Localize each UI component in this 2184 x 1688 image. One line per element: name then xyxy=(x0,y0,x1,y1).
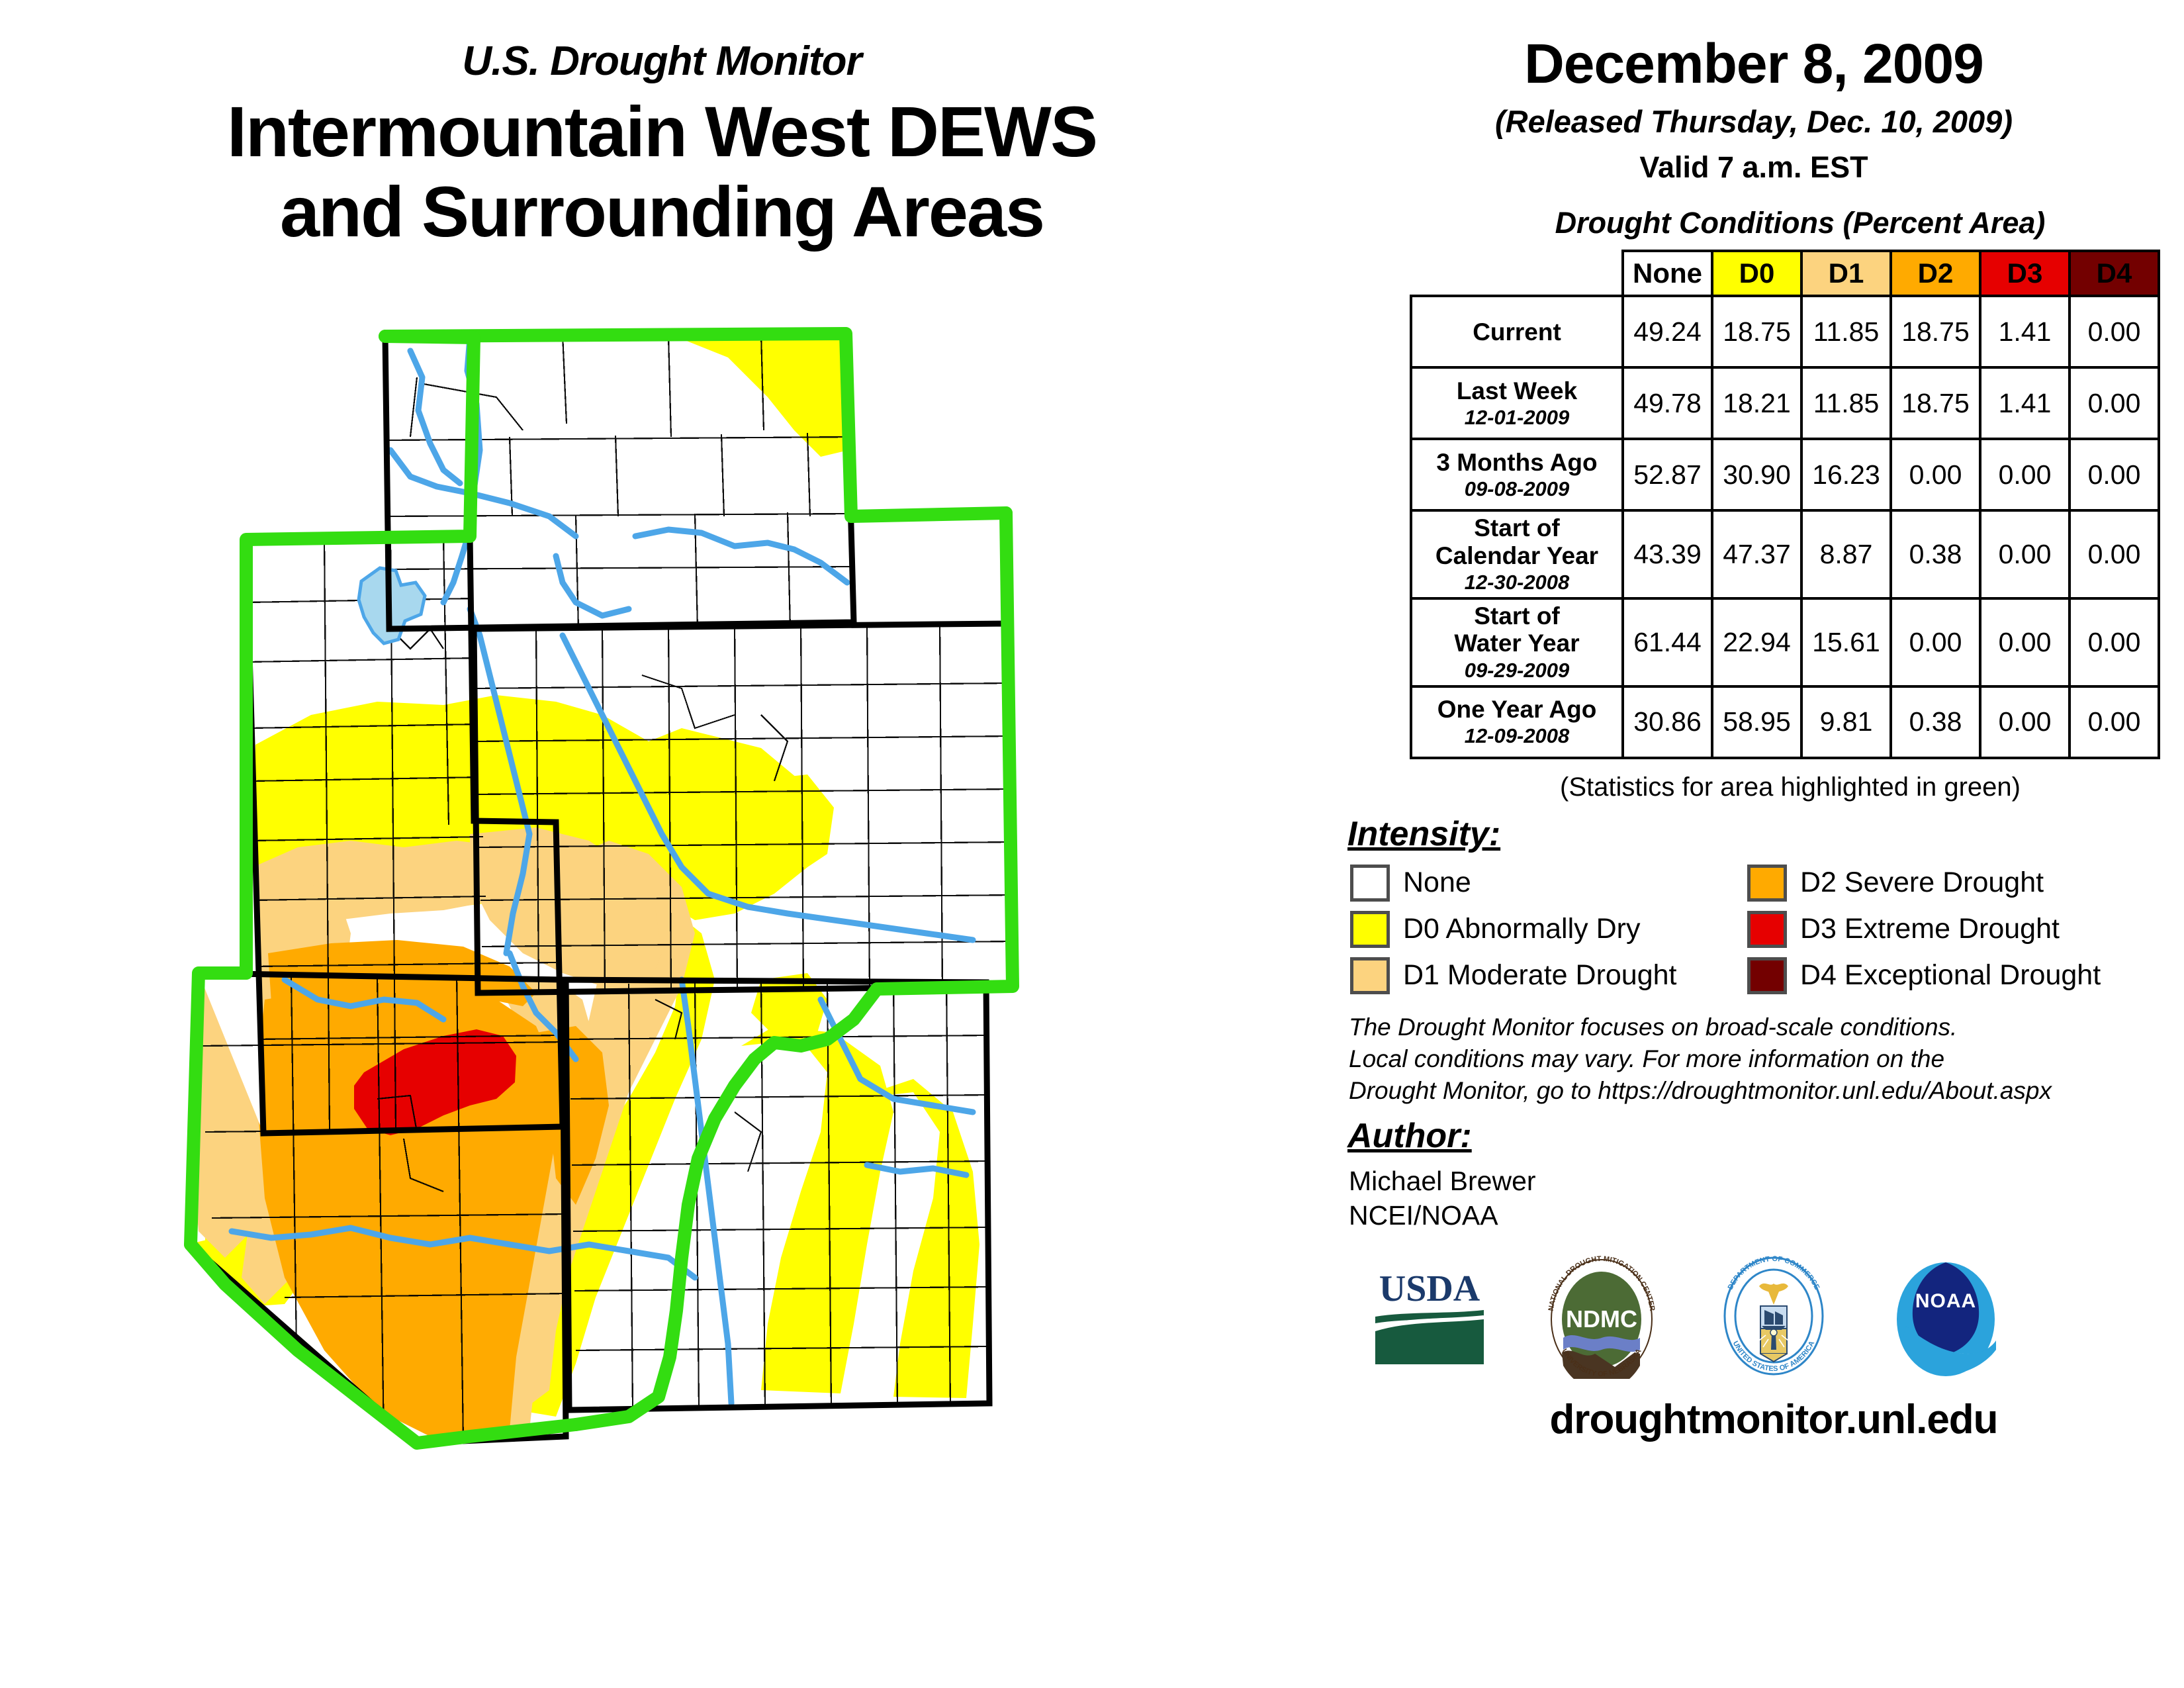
table-row: One Year Ago12-09-200830.8658.959.810.38… xyxy=(1411,686,2159,758)
table-cell-value: 9.81 xyxy=(1801,686,1891,758)
swatch-d2-icon xyxy=(1747,865,1787,902)
col-header-d1: D1 xyxy=(1801,251,1891,296)
table-cell-value: 15.61 xyxy=(1801,598,1891,686)
table-cell-value: 1.41 xyxy=(1980,296,2070,367)
col-header-none: None xyxy=(1623,251,1712,296)
table-cell-value: 0.00 xyxy=(1980,686,2070,758)
swatch-d0-icon xyxy=(1350,911,1390,948)
table-cell-value: 0.00 xyxy=(2070,510,2159,598)
table-cell-value: 18.75 xyxy=(1891,296,1980,367)
table-cell-value: 0.00 xyxy=(1891,439,1980,510)
table-cell-value: 30.90 xyxy=(1712,439,1801,510)
row-label-date: 09-29-2009 xyxy=(1416,659,1617,682)
legend-label-none: None xyxy=(1403,867,1471,899)
col-header-d4: D4 xyxy=(2070,251,2159,296)
disclaimer-line-2: Local conditions may vary. For more info… xyxy=(1349,1043,2164,1075)
page-subtitle: U.S. Drought Monitor xyxy=(0,40,1324,83)
row-label: 3 Months Ago09-08-2009 xyxy=(1411,439,1623,510)
row-label-date: 12-30-2008 xyxy=(1416,571,1617,594)
table-cell-value: 0.00 xyxy=(1891,598,1980,686)
col-header-d0: D0 xyxy=(1712,251,1801,296)
release-date: (Released Thursday, Dec. 10, 2009) xyxy=(1343,103,2164,140)
table-cell-value: 0.00 xyxy=(1980,510,2070,598)
page-title-line1: Intermountain West DEWS xyxy=(0,92,1324,172)
row-label: One Year Ago12-09-2008 xyxy=(1411,686,1623,758)
table-cell-value: 49.78 xyxy=(1623,367,1712,439)
table-cell-value: 22.94 xyxy=(1712,598,1801,686)
table-header: None D0 D1 D2 D3 D4 xyxy=(1411,251,2159,296)
legend-label-d2: D2 Severe Drought xyxy=(1800,867,2044,899)
row-label: Start ofWater Year09-29-2009 xyxy=(1411,598,1623,686)
table-cell-value: 47.37 xyxy=(1712,510,1801,598)
table-row: Start ofCalendar Year12-30-200843.3947.3… xyxy=(1411,510,2159,598)
table-cell-value: 49.24 xyxy=(1623,296,1712,367)
disclaimer-text: The Drought Monitor focuses on broad-sca… xyxy=(1349,1011,2164,1107)
table-cell-value: 1.41 xyxy=(1980,367,2070,439)
table-cell-value: 8.87 xyxy=(1801,510,1891,598)
valid-time: Valid 7 a.m. EST xyxy=(1343,150,2164,185)
legend-item-d2: D2 Severe Drought xyxy=(1747,865,2144,902)
table-cell-value: 18.75 xyxy=(1712,296,1801,367)
legend-item-d0: D0 Abnormally Dry xyxy=(1350,911,1747,948)
legend-item-none: None xyxy=(1350,865,1747,902)
table-cell-value: 0.00 xyxy=(2070,367,2159,439)
table-cell-value: 0.00 xyxy=(2070,439,2159,510)
table-cell-value: 61.44 xyxy=(1623,598,1712,686)
page-title: Intermountain West DEWS and Surrounding … xyxy=(0,92,1324,252)
row-label: Start ofCalendar Year12-30-2008 xyxy=(1411,510,1623,598)
author-name: Michael Brewer xyxy=(1349,1164,2164,1198)
author-heading: Author: xyxy=(1347,1116,2164,1156)
table-row: Start ofWater Year09-29-200961.4422.9415… xyxy=(1411,598,2159,686)
author-block: Michael Brewer NCEI/NOAA xyxy=(1349,1164,2164,1233)
usda-logo: USDA xyxy=(1363,1253,1496,1379)
table-cell-value: 0.00 xyxy=(1980,439,2070,510)
table-cell-value: 18.75 xyxy=(1891,367,1980,439)
table-body: Current49.2418.7511.8518.751.410.00Last … xyxy=(1411,296,2159,757)
table-cell-value: 0.00 xyxy=(2070,598,2159,686)
doc-seal-logo: DEPARTMENT OF COMMERCE UNITED STATES OF … xyxy=(1707,1253,1840,1379)
title-block: U.S. Drought Monitor Intermountain West … xyxy=(0,40,1324,252)
legend-item-d1: D1 Moderate Drought xyxy=(1350,957,1747,994)
table-cell-value: 11.85 xyxy=(1801,367,1891,439)
page-title-line2: and Surrounding Areas xyxy=(0,172,1324,252)
table-cell-value: 0.38 xyxy=(1891,686,1980,758)
legend-item-d3: D3 Extreme Drought xyxy=(1747,911,2144,948)
table-cell-value: 52.87 xyxy=(1623,439,1712,510)
author-affiliation: NCEI/NOAA xyxy=(1349,1198,2164,1233)
table-cell-value: 0.38 xyxy=(1891,510,1980,598)
legend-label-d4: D4 Exceptional Drought xyxy=(1800,959,2101,992)
table-cell-value: 58.95 xyxy=(1712,686,1801,758)
table-caption: Drought Conditions (Percent Area) xyxy=(1343,206,2164,240)
row-label-date: 09-08-2009 xyxy=(1416,478,1617,501)
legend-label-d0: D0 Abnormally Dry xyxy=(1403,913,1640,945)
intensity-legend: None D2 Severe Drought D0 Abnormally Dry… xyxy=(1350,865,2164,994)
row-label-date: 12-01-2009 xyxy=(1416,406,1617,430)
legend-item-d4: D4 Exceptional Drought xyxy=(1747,957,2144,994)
swatch-d3-icon xyxy=(1747,911,1787,948)
swatch-none-icon xyxy=(1350,865,1390,902)
row-label: Current xyxy=(1411,296,1623,367)
agency-logos: USDA NDMC NATIONAL DROUGHT MITIGATION CE xyxy=(1363,1253,2164,1379)
svg-text:NOAA: NOAA xyxy=(1915,1290,1976,1312)
disclaimer-line-3[interactable]: Drought Monitor, go to https://droughtmo… xyxy=(1349,1075,2164,1107)
website-url[interactable]: droughtmonitor.unl.edu xyxy=(1343,1396,2164,1443)
swatch-d4-icon xyxy=(1747,957,1787,994)
disclaimer-line-1: The Drought Monitor focuses on broad-sca… xyxy=(1349,1011,2164,1043)
col-header-d2: D2 xyxy=(1891,251,1980,296)
table-cell-value: 0.00 xyxy=(2070,296,2159,367)
col-header-d3: D3 xyxy=(1980,251,2070,296)
swatch-d1-icon xyxy=(1350,957,1390,994)
legend-label-d3: D3 Extreme Drought xyxy=(1800,913,2060,945)
svg-text:USDA: USDA xyxy=(1379,1268,1480,1309)
report-date: December 8, 2009 xyxy=(1343,33,2164,94)
svg-text:NDMC: NDMC xyxy=(1566,1305,1637,1333)
noaa-logo: NOAA xyxy=(1880,1253,2012,1379)
table-corner-cell xyxy=(1411,251,1623,296)
table-cell-value: 11.85 xyxy=(1801,296,1891,367)
table-cell-value: 16.23 xyxy=(1801,439,1891,510)
table-cell-value: 0.00 xyxy=(2070,686,2159,758)
row-label-date: 12-09-2008 xyxy=(1416,725,1617,748)
table-cell-value: 18.21 xyxy=(1712,367,1801,439)
row-label: Last Week12-01-2009 xyxy=(1411,367,1623,439)
table-cell-value: 43.39 xyxy=(1623,510,1712,598)
green-area-note: (Statistics for area highlighted in gree… xyxy=(1343,773,2164,802)
table-row: 3 Months Ago09-08-200952.8730.9016.230.0… xyxy=(1411,439,2159,510)
legend-label-d1: D1 Moderate Drought xyxy=(1403,959,1677,992)
table-row: Current49.2418.7511.8518.751.410.00 xyxy=(1411,296,2159,367)
table-cell-value: 0.00 xyxy=(1980,598,2070,686)
table-cell-value: 30.86 xyxy=(1623,686,1712,758)
ndmc-logo: NDMC NATIONAL DROUGHT MITIGATION CENTER … xyxy=(1535,1253,1668,1379)
info-panel: December 8, 2009 (Released Thursday, Dec… xyxy=(1343,33,2164,1443)
drought-conditions-table: None D0 D1 D2 D3 D4 Current49.2418.7511.… xyxy=(1410,250,2160,759)
table-row: Last Week12-01-200949.7818.2111.8518.751… xyxy=(1411,367,2159,439)
intensity-heading: Intensity: xyxy=(1347,814,2164,854)
drought-map[interactable] xyxy=(99,318,1291,1609)
